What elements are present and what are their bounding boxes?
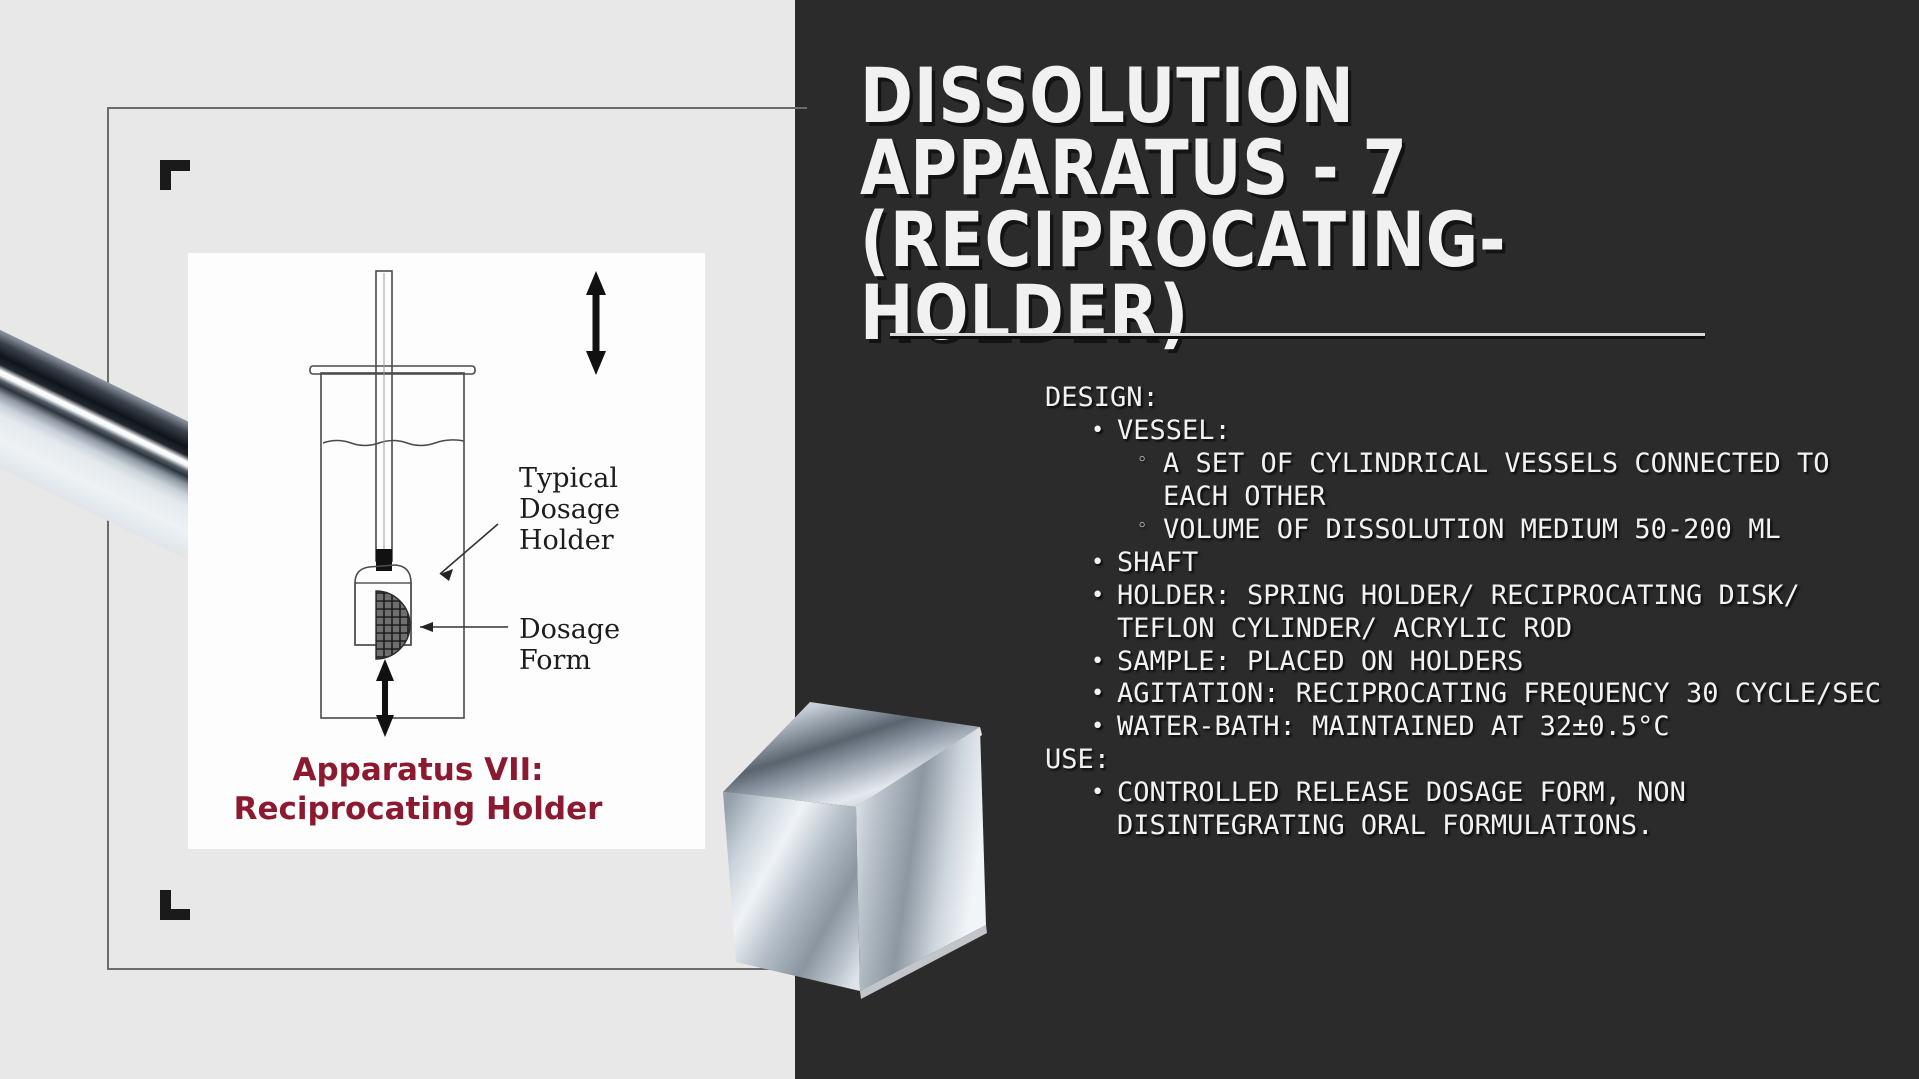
svg-text:Apparatus VII:: Apparatus VII: xyxy=(292,752,543,788)
bullet-icon: • xyxy=(1091,580,1117,612)
svg-text:Form: Form xyxy=(519,645,591,676)
metallic-cube xyxy=(690,685,1050,1015)
svg-text:Dosage: Dosage xyxy=(519,614,620,645)
content-bullet-text: AGITATION: RECIPROCATING FREQUENCY 30 CY… xyxy=(1117,678,1905,711)
bullet-icon: • xyxy=(1091,678,1117,710)
svg-text:Reciprocating Holder: Reciprocating Holder xyxy=(234,791,604,827)
svg-text:Holder: Holder xyxy=(519,525,614,556)
hollow-bullet-icon: ◦ xyxy=(1137,514,1163,539)
content-bullet-item: •SHAFT xyxy=(1091,547,1905,580)
content-section-heading: DESIGN: xyxy=(1045,382,1905,415)
bullet-icon: • xyxy=(1091,547,1117,579)
content-bullet-text: WATER-BATH: MAINTAINED AT 32±0.5°C xyxy=(1117,711,1905,744)
content-bullet-item: ◦VOLUME OF DISSOLUTION MEDIUM 50-200 ML xyxy=(1137,514,1905,547)
content-bullet-text: VOLUME OF DISSOLUTION MEDIUM 50-200 ML xyxy=(1163,514,1905,547)
corner-bracket-top-left-icon xyxy=(160,160,190,190)
content-bullet-item: ◦A SET OF CYLINDRICAL VESSELS CONNECTED … xyxy=(1137,448,1905,514)
content-bullet-item: •VESSEL: xyxy=(1091,415,1905,448)
content-bullet-item: •AGITATION: RECIPROCATING FREQUENCY 30 C… xyxy=(1091,678,1905,711)
corner-bracket-bottom-left-icon xyxy=(160,890,190,920)
content-bullet-text: HOLDER: SPRING HOLDER/ RECIPROCATING DIS… xyxy=(1117,580,1905,646)
hollow-bullet-icon: ◦ xyxy=(1137,448,1163,473)
bullet-icon: • xyxy=(1091,777,1117,809)
title-divider xyxy=(890,333,1705,336)
content-body: DESIGN:•VESSEL:◦A SET OF CYLINDRICAL VES… xyxy=(1045,382,1905,843)
apparatus-diagram: Typical Dosage Holder Dosage Form xyxy=(188,253,705,849)
content-bullet-item: •SAMPLE: PLACED ON HOLDERS xyxy=(1091,646,1905,679)
content-bullet-item: •HOLDER: SPRING HOLDER/ RECIPROCATING DI… xyxy=(1091,580,1905,646)
content-bullet-text: SHAFT xyxy=(1117,547,1905,580)
svg-text:Dosage: Dosage xyxy=(519,494,620,525)
bullet-icon: • xyxy=(1091,646,1117,678)
apparatus-figure-card: Typical Dosage Holder Dosage Form xyxy=(188,253,705,849)
page-title: DISSOLUTION APPARATUS - 7 (RECIPROCATING… xyxy=(860,60,1717,349)
content-bullet-text: A SET OF CYLINDRICAL VESSELS CONNECTED T… xyxy=(1163,448,1905,514)
content-bullet-text: CONTROLLED RELEASE DOSAGE FORM, NON DISI… xyxy=(1117,777,1905,843)
bullet-icon: • xyxy=(1091,415,1117,447)
figure-label-dosage-holder: Typical Dosage Holder xyxy=(519,463,620,556)
svg-text:Typical: Typical xyxy=(519,463,618,494)
content-section-heading: USE: xyxy=(1045,744,1905,777)
content-bullet-text: SAMPLE: PLACED ON HOLDERS xyxy=(1117,646,1905,679)
bullet-icon: • xyxy=(1091,711,1117,743)
content-bullet-item: •WATER-BATH: MAINTAINED AT 32±0.5°C xyxy=(1091,711,1905,744)
content-bullet-item: •CONTROLLED RELEASE DOSAGE FORM, NON DIS… xyxy=(1091,777,1905,843)
slide-canvas: Typical Dosage Holder Dosage Form xyxy=(0,0,1919,1079)
content-bullet-text: VESSEL: xyxy=(1117,415,1905,448)
